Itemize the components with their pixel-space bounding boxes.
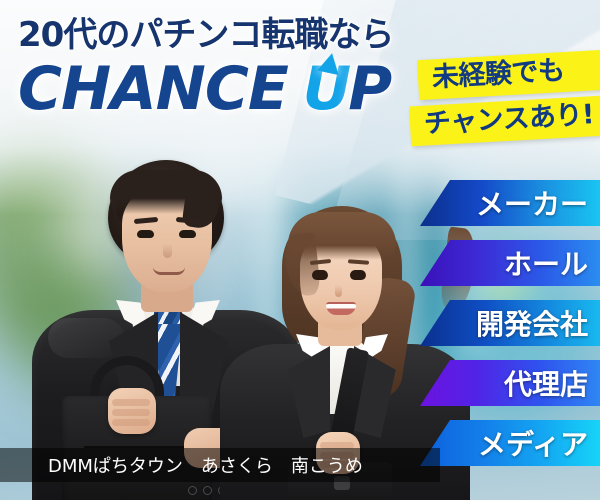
man-nose xyxy=(163,244,172,258)
logo-p-text: P xyxy=(348,54,391,124)
man-mouth xyxy=(153,267,185,275)
woman-eye-left xyxy=(312,270,328,280)
woman-nose xyxy=(335,285,342,297)
category-hall[interactable]: ホール xyxy=(420,240,600,286)
woman-hair-fringe xyxy=(288,212,396,260)
banner-ad[interactable]: 20代のパチンコ転職なら CHANCE UP 未経験でも チャンスあり! メーカ… xyxy=(0,0,600,500)
promo-badges: 未経験でも チャンスあり! xyxy=(418,55,600,142)
logo-chance-up: CHANCE UP xyxy=(18,59,438,119)
headline-sub: 20代のパチンコ転職なら xyxy=(18,18,438,52)
logo-up-wrap: UP xyxy=(303,59,392,119)
badge-inexperienced: 未経験でも xyxy=(417,50,600,101)
category-label: 代理店 xyxy=(504,363,588,403)
category-maker[interactable]: メーカー xyxy=(420,180,600,226)
credit-bar: DMMぱちタウン あさくら 南こうめ xyxy=(0,448,440,482)
man-hand xyxy=(108,388,156,434)
category-label: メディア xyxy=(478,423,588,463)
category-label: 開発会社 xyxy=(476,303,588,343)
man-hair-fringe xyxy=(110,170,222,214)
headline-block: 20代のパチンコ転職なら CHANCE UP xyxy=(18,18,438,119)
woman-mouth xyxy=(326,302,356,315)
logo-chance-text: CHANCE xyxy=(18,54,288,124)
badge-chance-available: チャンスあり! xyxy=(409,96,600,147)
category-label: ホール xyxy=(504,243,588,283)
category-list: メーカー ホール 開発会社 代理店 メディア xyxy=(420,180,600,480)
credit-text: DMMぱちタウン あさくら 南こうめ xyxy=(0,452,363,478)
category-media[interactable]: メディア xyxy=(420,420,600,466)
category-development-company[interactable]: 開発会社 xyxy=(420,300,600,346)
woman-eye-right xyxy=(350,270,366,280)
category-agency[interactable]: 代理店 xyxy=(420,360,600,406)
man-eye-left xyxy=(137,230,154,238)
man-eye-right xyxy=(179,230,196,238)
category-label: メーカー xyxy=(476,183,588,223)
